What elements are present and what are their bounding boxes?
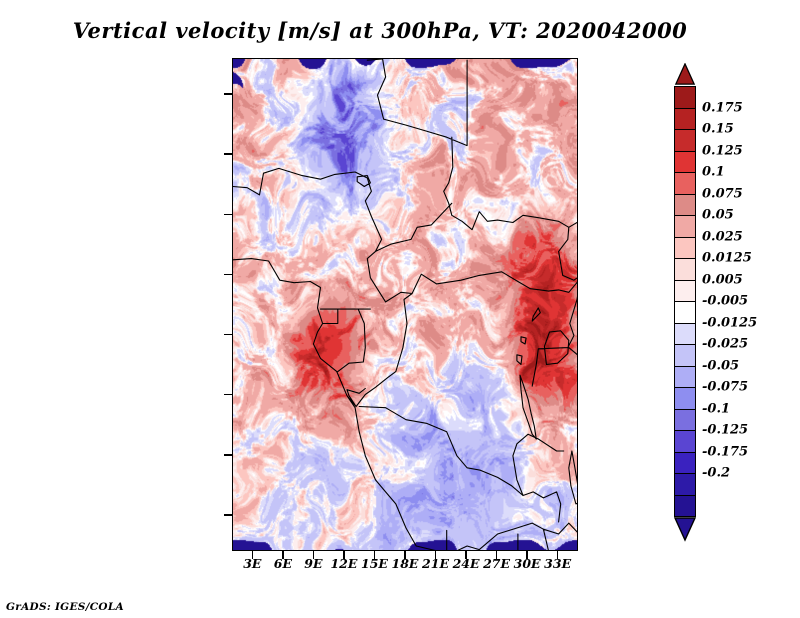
latitude-tick (224, 214, 232, 216)
grads-attribution: GrADS: IGES/COLA (6, 601, 124, 613)
colorbar-band (674, 387, 696, 410)
longitude-tick-label: 33E (535, 556, 581, 571)
country-borders-overlay (233, 59, 578, 551)
colorbar-band (674, 409, 696, 432)
colorbar-cap-bottom (674, 516, 696, 542)
colorbar-tick-label: 0.0125 (702, 251, 752, 266)
colorbar-band (674, 129, 696, 152)
border-path (233, 59, 578, 551)
map-plot-area (232, 58, 578, 551)
colorbar-tick-label: 0.125 (702, 143, 743, 158)
colorbar-tick-label: -0.125 (702, 423, 748, 438)
colorbar-tick-label: 0.15 (702, 122, 734, 137)
colorbar-band (674, 108, 696, 131)
colorbar-tick-label: -0.1 (702, 401, 730, 416)
latitude-tick (224, 454, 232, 456)
colorbar-band (674, 323, 696, 346)
colorbar-band (674, 473, 696, 496)
latitude-tick (224, 514, 232, 516)
colorbar-tick-label: 0.005 (702, 272, 743, 287)
colorbar-tick-label: -0.075 (702, 380, 748, 395)
colorbar-band (674, 366, 696, 389)
colorbar-band (674, 280, 696, 303)
colorbar-band (674, 215, 696, 238)
latitude-tick (224, 334, 232, 336)
colorbar-cap-top (674, 63, 696, 85)
colorbar-band (674, 172, 696, 195)
colorbar-tick-label: -0.05 (702, 358, 739, 373)
latitude-tick (224, 93, 232, 95)
latitude-tick (224, 274, 232, 276)
latitude-tick (224, 153, 232, 155)
colorbar-band (674, 86, 696, 109)
colorbar-tick-label: -0.2 (702, 466, 730, 481)
colorbar-tick-label: -0.005 (702, 294, 748, 309)
colorbar-tick-label: 0.175 (702, 100, 743, 115)
colorbar-tick-label: -0.0125 (702, 315, 757, 330)
colorbar-band (674, 452, 696, 475)
colorbar-tick-label: 0.025 (702, 229, 743, 244)
colorbar-tick-label: -0.175 (702, 444, 748, 459)
colorbar-band (674, 430, 696, 453)
colorbar-tick-label: -0.025 (702, 337, 748, 352)
colorbar: 0.1750.150.1250.10.0750.050.0250.01250.0… (670, 60, 790, 560)
latitude-tick (224, 394, 232, 396)
colorbar-band (674, 151, 696, 174)
colorbar-band (674, 237, 696, 260)
colorbar-tick-label: 0.05 (702, 208, 734, 223)
colorbar-band (674, 301, 696, 324)
colorbar-tick-label: 0.075 (702, 186, 743, 201)
colorbar-band (674, 194, 696, 217)
page-title: Vertical velocity [m/s] at 300hPa, VT: 2… (0, 18, 760, 43)
colorbar-band (674, 495, 696, 518)
colorbar-tick-label: 0.1 (702, 165, 725, 180)
colorbar-band (674, 258, 696, 281)
colorbar-band (674, 344, 696, 367)
